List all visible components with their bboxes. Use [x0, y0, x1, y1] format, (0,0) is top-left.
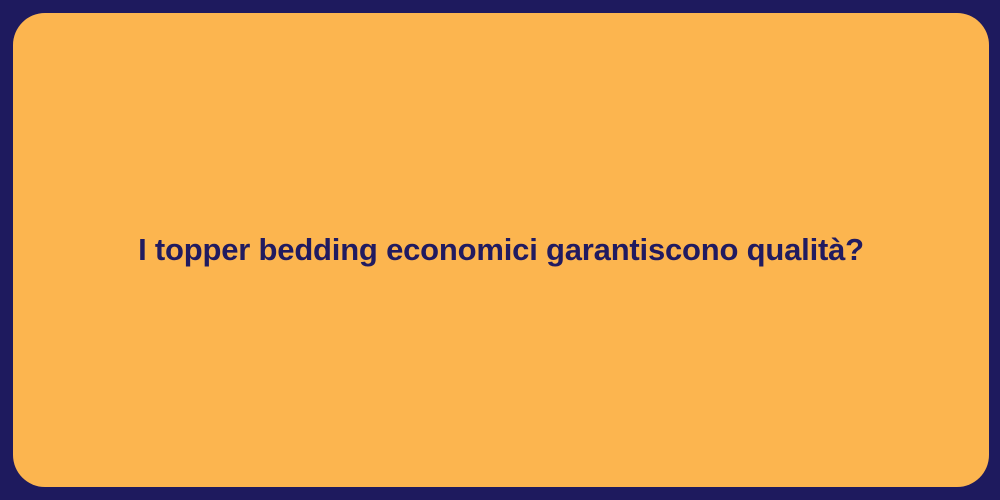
banner-frame: I topper bedding economici garantiscono … — [0, 0, 1000, 500]
banner-heading: I topper bedding economici garantiscono … — [138, 230, 864, 270]
banner-card: I topper bedding economici garantiscono … — [13, 13, 989, 487]
